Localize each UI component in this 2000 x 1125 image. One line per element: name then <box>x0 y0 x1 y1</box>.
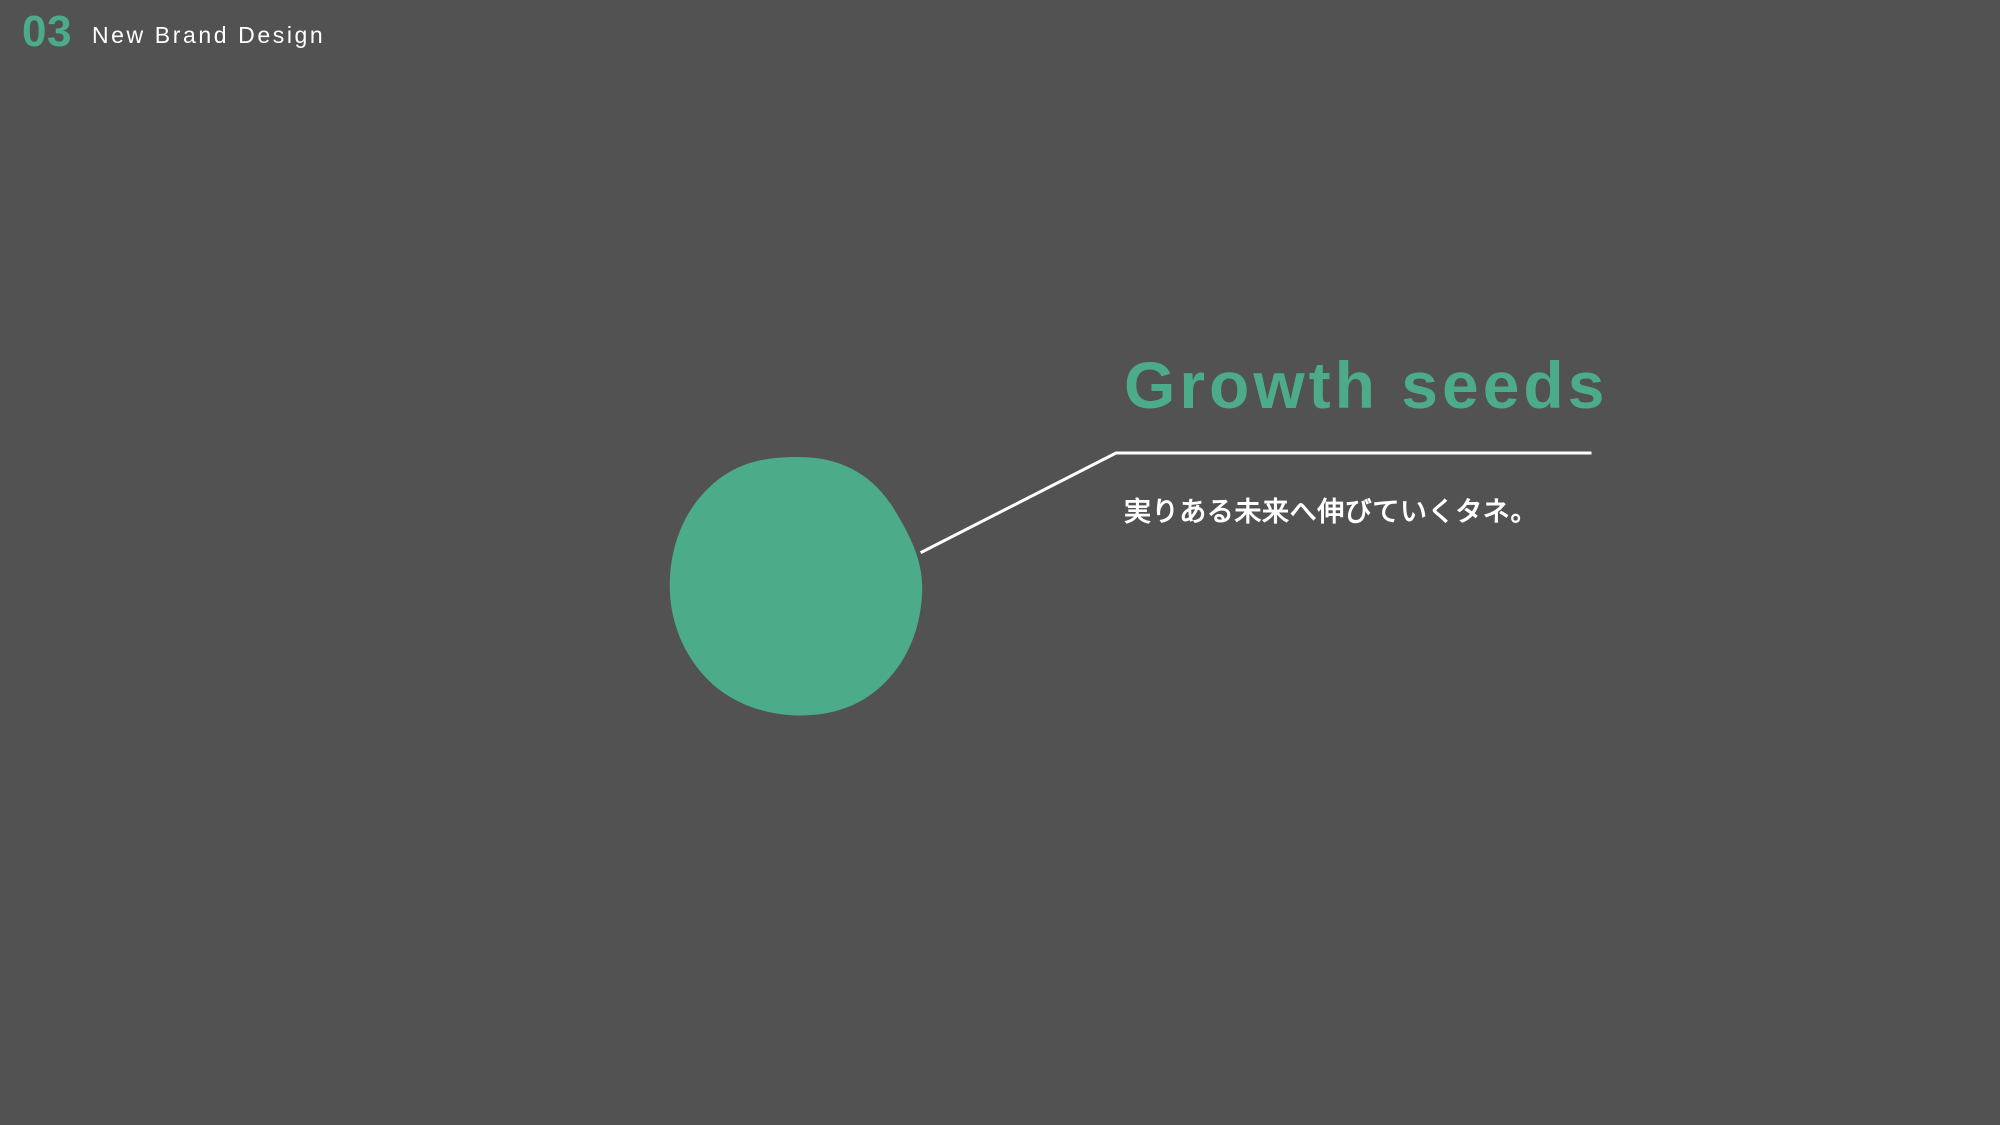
green-blob <box>668 455 924 717</box>
callout-subtitle: 実りある未来へ伸びていくタネ。 <box>1124 495 1538 530</box>
slide-header: 03 New Brand Design <box>22 10 325 54</box>
section-title: New Brand Design <box>92 24 325 47</box>
blob-path <box>670 457 922 715</box>
section-number: 03 <box>22 10 72 54</box>
callout-block: Growth seeds 実りある未来へ伸びていくタネ。 <box>1124 352 1724 419</box>
callout-heading: Growth seeds <box>1124 352 1724 419</box>
slide-canvas: 03 New Brand Design Growth seeds 実りある未来へ… <box>0 0 2000 1125</box>
